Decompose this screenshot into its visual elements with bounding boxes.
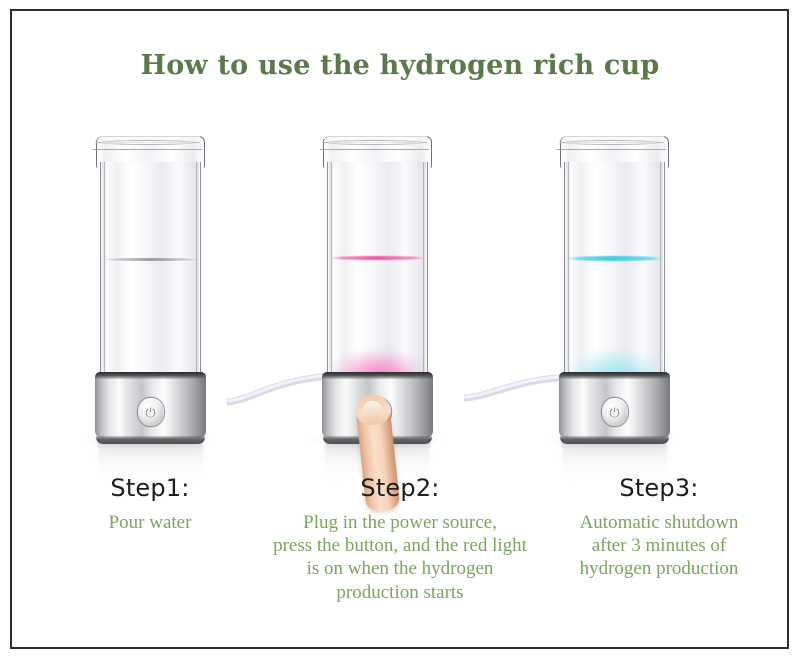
device-illustration-step3: ⏻ <box>529 136 699 466</box>
base-top-edge-2 <box>322 372 433 379</box>
power-icon: ⏻ <box>609 406 619 419</box>
bottle-body-3 <box>564 162 665 390</box>
water-surface-line-2 <box>330 256 427 260</box>
power-cable-3 <box>464 368 569 412</box>
power-button-1[interactable]: ⏻ <box>138 398 164 426</box>
step-line: Pour water <box>36 511 264 534</box>
lid-lip-2 <box>327 140 422 145</box>
step-line: hydrogen production <box>528 557 790 580</box>
step-line: Automatic shutdown <box>528 511 790 534</box>
bottle-body-1 <box>100 162 201 390</box>
step-line: Plug in the power source, <box>242 511 558 534</box>
step-line: is on when the hydrogen <box>242 557 558 580</box>
step-line: production starts <box>242 581 558 604</box>
power-cable-2 <box>227 368 332 412</box>
device-illustration-step2: ⏻ <box>292 136 462 466</box>
base-top-edge-3 <box>559 372 670 379</box>
step-line: press the button, and the red light <box>242 534 558 557</box>
page-title: How to use the hydrogen rich cup <box>0 50 800 81</box>
device-illustration-step1: ⏻ <box>65 136 235 466</box>
step-block-1: Step1: Pour water <box>36 474 264 534</box>
step-line: after 3 minutes of <box>528 534 790 557</box>
step-heading-1: Step1: <box>36 474 264 502</box>
power-button-3[interactable]: ⏻ <box>602 398 628 426</box>
lid-lip-1 <box>100 140 195 145</box>
lid-lip-3 <box>564 140 659 145</box>
step-description-3: Automatic shutdown after 3 minutes of hy… <box>528 511 790 581</box>
base-top-edge-1 <box>95 372 206 379</box>
step-block-3: Step3: Automatic shutdown after 3 minute… <box>528 474 790 581</box>
step-description-1: Pour water <box>36 511 264 534</box>
bottle-body-2 <box>327 162 428 390</box>
metal-base-3: ⏻ <box>559 372 670 444</box>
water-surface-line-3 <box>567 256 664 261</box>
step-description-2: Plug in the power source, press the butt… <box>242 511 558 604</box>
power-icon: ⏻ <box>145 406 155 419</box>
water-surface-line-1 <box>103 258 200 261</box>
metal-base-1: ⏻ <box>95 372 206 444</box>
step-block-2: Step2: Plug in the power source, press t… <box>242 474 558 604</box>
infographic-root: How to use the hydrogen rich cup ⏻ <box>0 0 800 664</box>
step-heading-2: Step2: <box>242 474 558 502</box>
step-heading-3: Step3: <box>528 474 790 502</box>
